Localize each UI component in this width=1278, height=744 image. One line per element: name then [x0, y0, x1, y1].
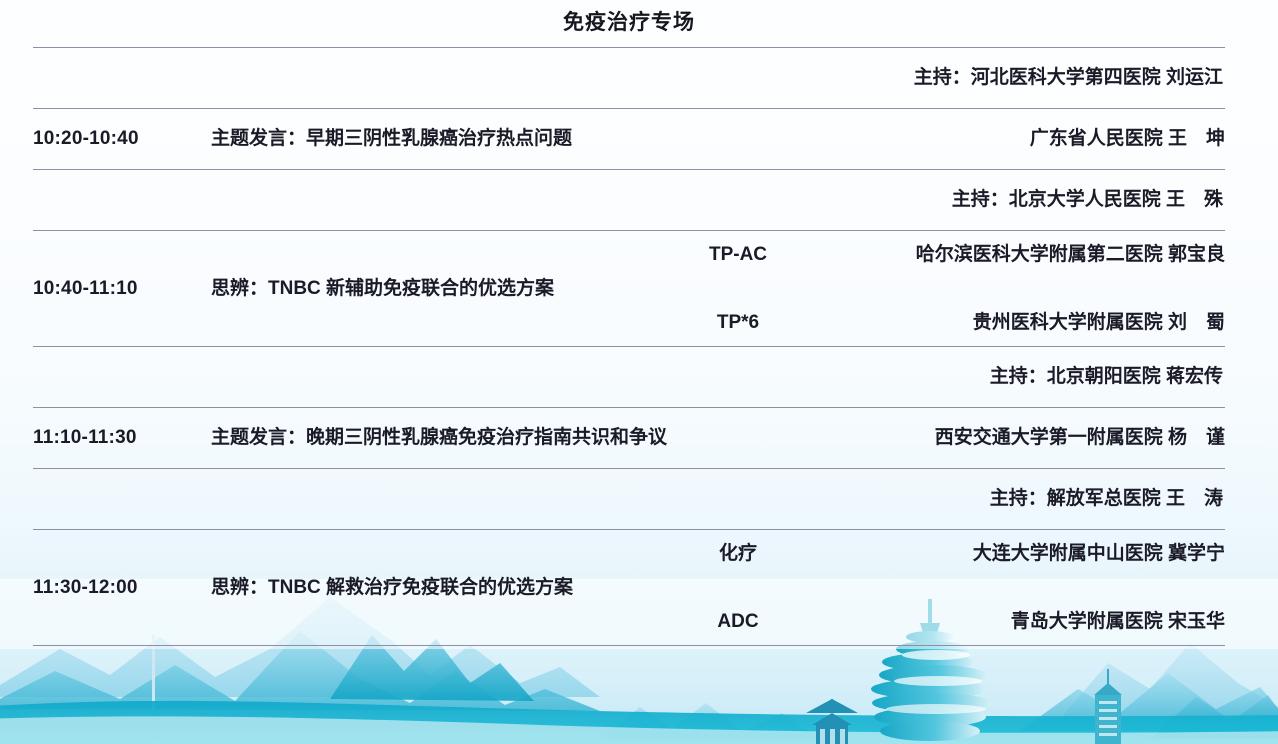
- agenda-table: 免疫治疗专场 主持：河北医科大学第四医院 刘运江 10:20-10:40 主题发…: [33, 0, 1225, 646]
- water-foam: [0, 716, 1278, 744]
- debate-arm-a-label: TP-AC: [709, 243, 767, 267]
- host-name: 主持：北京大学人民医院 王 殊: [33, 170, 1225, 231]
- water-band: [0, 701, 1278, 744]
- slide-canvas: 免疫治疗专场 主持：河北医科大学第四医院 刘运江 10:20-10:40 主题发…: [0, 0, 1278, 744]
- hills-center: [600, 703, 820, 739]
- session-time: 10:40-11:10: [33, 231, 211, 347]
- speaker-name-b: 贵州医科大学附属医院 刘 蜀: [973, 311, 1225, 335]
- session-time: 11:30-12:00: [33, 530, 211, 646]
- mountain-mid-right: [1020, 673, 1278, 731]
- debate-arm-a-label: 化疗: [719, 542, 757, 566]
- session-time: 11:10-11:30: [33, 408, 211, 469]
- debate-arm-b-label: TP*6: [717, 311, 759, 335]
- session-time: 10:20-10:40: [33, 109, 211, 170]
- agenda-row-debate: 11:30-12:00 思辨：TNBC 解救治疗免疫联合的优选方案 化疗 ADC…: [33, 530, 1225, 646]
- session-topic: 思辨：TNBC 新辅助免疫联合的优选方案: [211, 231, 663, 347]
- speaker-name: 广东省人民医院 王 坤: [813, 109, 1225, 170]
- host-row: 主持：北京大学人民医院 王 殊: [33, 170, 1225, 231]
- debate-arm-b-label: ADC: [717, 610, 758, 634]
- agenda-row-debate: 10:40-11:10 思辨：TNBC 新辅助免疫联合的优选方案 TP-AC T…: [33, 231, 1225, 347]
- session-title: 免疫治疗专场: [33, 0, 1225, 48]
- pagoda-landmark: [806, 699, 858, 744]
- host-row: 主持：河北医科大学第四医院 刘运江: [33, 48, 1225, 109]
- debate-speakers: 大连大学附属中山医院 冀学宁 青岛大学附属医院 宋玉华: [813, 530, 1225, 646]
- debate-arms: TP-AC TP*6: [663, 231, 813, 347]
- host-row: 主持：解放军总医院 王 涛: [33, 469, 1225, 530]
- host-row: 主持：北京朝阳医院 蒋宏传: [33, 347, 1225, 408]
- host-name: 主持：北京朝阳医院 蒋宏传: [33, 347, 1225, 408]
- session-topic: 思辨：TNBC 解救治疗免疫联合的优选方案: [211, 530, 663, 646]
- debate-arms: 化疗 ADC: [663, 530, 813, 646]
- flagpole: [152, 635, 155, 744]
- speaker-name: 西安交通大学第一附属医院 杨 谨: [813, 408, 1225, 469]
- session-topic: 主题发言：早期三阴性乳腺癌治疗热点问题: [211, 109, 813, 170]
- skyscraper-landmark: [1094, 669, 1122, 744]
- speaker-name-b: 青岛大学附属医院 宋玉华: [1011, 610, 1225, 634]
- agenda-row-talk: 10:20-10:40 主题发言：早期三阴性乳腺癌治疗热点问题 广东省人民医院 …: [33, 109, 1225, 170]
- host-name: 主持：河北医科大学第四医院 刘运江: [33, 48, 1225, 109]
- mountain-near-right: [1150, 695, 1278, 739]
- agenda-row-talk: 11:10-11:30 主题发言：晚期三阴性乳腺癌免疫治疗指南共识和争议 西安交…: [33, 408, 1225, 469]
- speaker-name-a: 哈尔滨医科大学附属第二医院 郭宝良: [916, 243, 1225, 267]
- mountain-far-right: [1060, 643, 1278, 719]
- debate-speakers: 哈尔滨医科大学附属第二医院 郭宝良 贵州医科大学附属医院 刘 蜀: [813, 231, 1225, 347]
- session-topic: 主题发言：晚期三阴性乳腺癌免疫治疗指南共识和争议: [211, 408, 813, 469]
- host-name: 主持：解放军总医院 王 涛: [33, 469, 1225, 530]
- session-title-row: 免疫治疗专场: [33, 0, 1225, 48]
- speaker-name-a: 大连大学附属中山医院 冀学宁: [973, 542, 1225, 566]
